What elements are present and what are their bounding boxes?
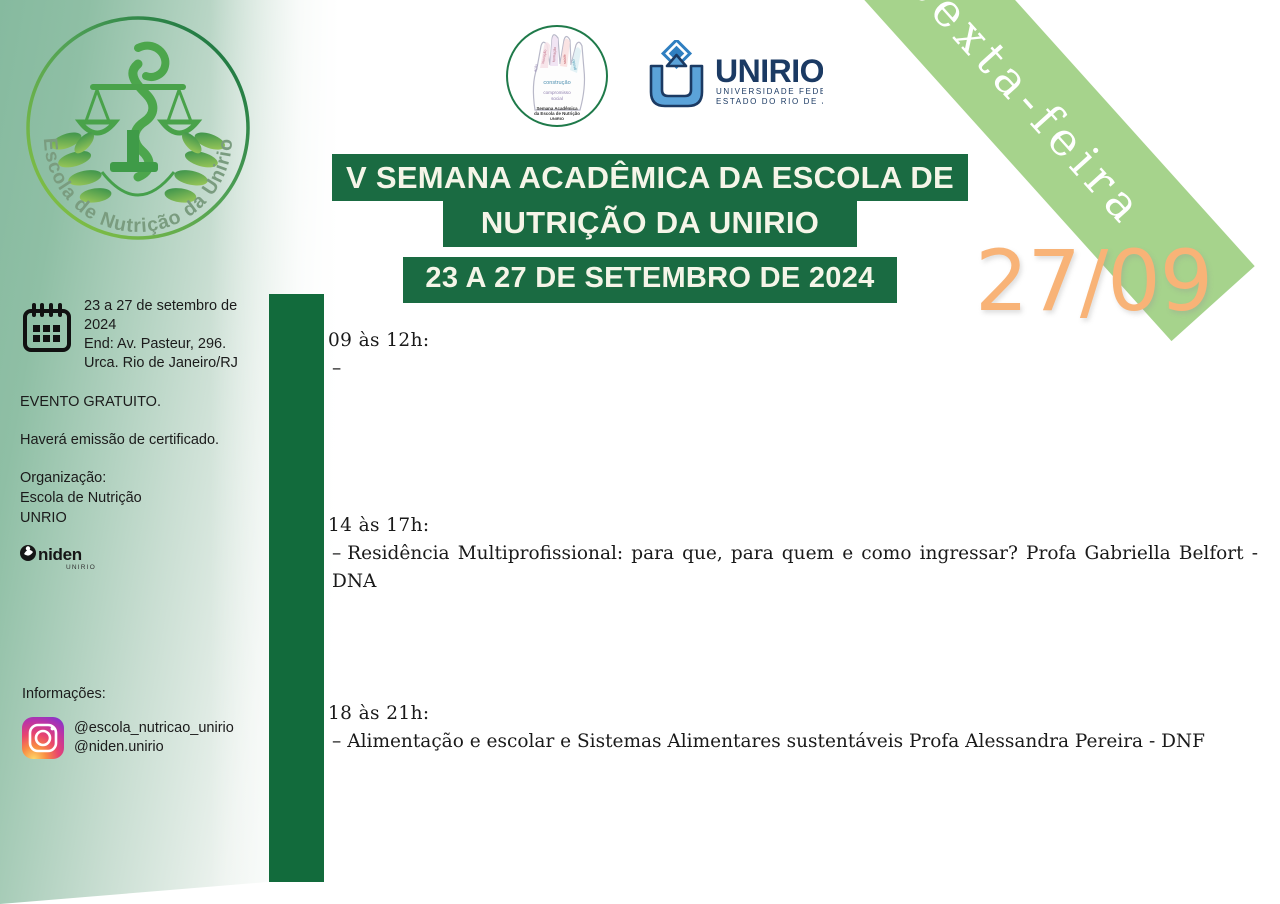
session-dash-morning: – (332, 358, 347, 379)
schedule-session-morning: 09 às 12h: – (328, 330, 1258, 383)
session-item-afternoon: –Residência Multiprofissional: para que,… (328, 540, 1258, 596)
session-time-morning: 09 às 12h: (328, 330, 1258, 351)
niden-wordmark: niden (38, 545, 82, 564)
title-line-1: V SEMANA ACADÊMICA DA ESCOLA DE (332, 154, 968, 201)
svg-text:compromisso: compromisso (543, 90, 571, 95)
session-time-afternoon: 14 às 17h: (328, 515, 1258, 536)
unirio-subline-2: ESTADO DO RIO DE JANEIRO (716, 97, 823, 106)
schedule-session-evening: 18 às 21h: –Alimentação e escolar e Sist… (328, 703, 1258, 756)
instagram-handle-1[interactable]: @escola_nutricao_unirio (74, 719, 234, 738)
green-accent-bar (269, 294, 324, 882)
event-date-badge: 27/09 (975, 232, 1212, 330)
niden-sub: UNIRIO (66, 564, 96, 571)
page-title: V SEMANA ACADÊMICA DA ESCOLA DE NUTRIÇÃO… (330, 154, 970, 303)
semana-academica-hand-logo: ação inovação formação saúde gestão cons… (505, 24, 609, 128)
address-line-2: End: Av. Pasteur, 296. (84, 335, 260, 354)
session-item-evening: –Alimentação e escolar e Sistemas Alimen… (328, 728, 1258, 756)
session-description-evening: Alimentação e escolar e Sistemas Aliment… (347, 731, 1205, 752)
hand-logo-caption-3: UNIRIO (550, 116, 564, 121)
svg-text:construção: construção (543, 80, 570, 86)
instagram-icon[interactable] (22, 717, 64, 759)
session-time-evening: 18 às 21h: (328, 703, 1258, 724)
svg-text:social: social (551, 96, 563, 101)
organization-line-1: Escola de Nutrição (20, 488, 260, 508)
escola-nutricao-seal-logo: Escola de Nutrição da Unirio (22, 12, 254, 244)
organization-label: Organização: (20, 468, 260, 488)
title-line-2: NUTRIÇÃO DA UNIRIO (443, 201, 857, 248)
address-line-3: Urca. Rio de Janeiro/RJ (84, 354, 260, 373)
organization-block: Organização: Escola de Nutrição UNRIO (20, 468, 260, 528)
sidebar-info-block: 23 a 27 de setembro de 2024 End: Av. Pas… (20, 295, 260, 572)
unirio-subline-1: UNIVERSIDADE FEDERAL DO (716, 87, 823, 96)
event-poster: Escola de Nutrição da Unirio ação ino (0, 0, 1280, 904)
certificate-note: Haverá emissão de certificado. (20, 430, 260, 450)
instagram-handles: @escola_nutricao_unirio @niden.unirio (74, 719, 234, 757)
session-dash-afternoon: – (332, 543, 347, 564)
svg-text:saúde: saúde (563, 54, 567, 64)
free-event-note: EVENTO GRATUITO. (20, 392, 260, 412)
header-logos: ação inovação formação saúde gestão cons… (505, 24, 823, 128)
unirio-logo: UNIRIO UNIVERSIDADE FEDERAL DO ESTADO DO… (627, 40, 823, 112)
info-label: Informações: (22, 686, 106, 702)
session-dash-evening: – (332, 731, 347, 752)
instagram-row[interactable]: @escola_nutricao_unirio @niden.unirio (22, 717, 234, 759)
niden-logo: niden UNIRIO (20, 542, 112, 572)
address-row: 23 a 27 de setembro de 2024 End: Av. Pas… (20, 295, 260, 374)
schedule-session-afternoon: 14 às 17h: –Residência Multiprofissional… (328, 515, 1258, 596)
address-text: 23 a 27 de setembro de 2024 End: Av. Pas… (84, 295, 260, 374)
calendar-icon (20, 302, 74, 354)
unirio-wordmark: UNIRIO (715, 53, 823, 89)
session-description-afternoon: Residência Multiprofissional: para que, … (332, 543, 1258, 592)
session-item-morning: – (328, 355, 1258, 383)
instagram-handle-2[interactable]: @niden.unirio (74, 738, 234, 757)
address-line-1: 23 a 27 de setembro de 2024 (84, 297, 260, 335)
organization-line-2: UNRIO (20, 508, 260, 528)
title-line-3: 23 A 27 DE SETEMBRO DE 2024 (403, 257, 896, 303)
